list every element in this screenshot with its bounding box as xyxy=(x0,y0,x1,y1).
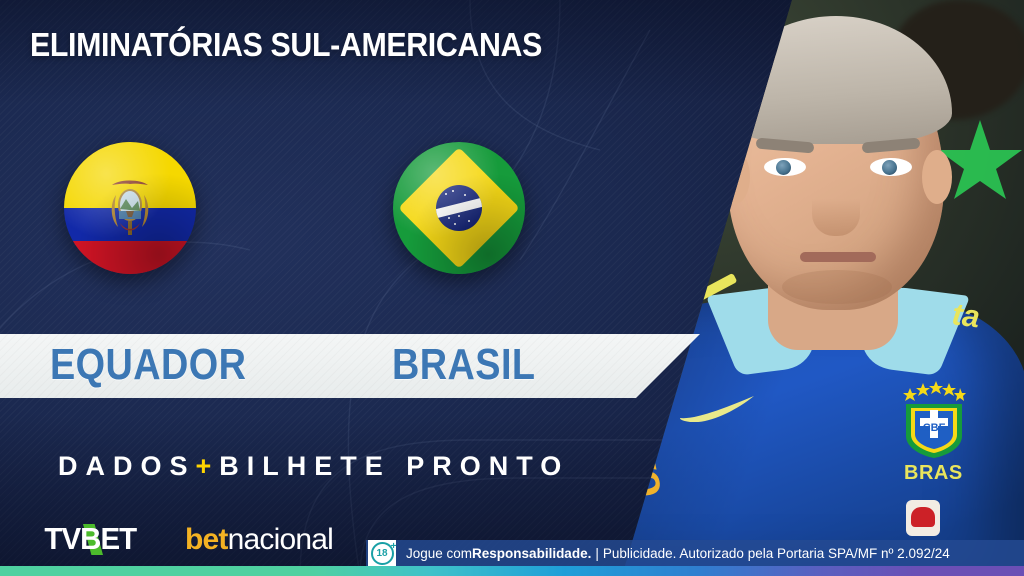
responsibility-bold: Responsabilidade. xyxy=(472,546,591,561)
nike-swoosh-icon xyxy=(678,396,756,422)
age-rating-plus: + xyxy=(391,541,397,552)
ear-right xyxy=(922,150,952,204)
age-rating-circle: 18 + xyxy=(371,542,394,565)
jersey-sponsor-patch xyxy=(906,500,940,536)
cbf-crest-icon: CBF xyxy=(902,380,966,458)
tvbet-logo[interactable]: TVBET xyxy=(42,524,139,554)
jersey-sponsor-text-right: ta xyxy=(950,296,1016,339)
bottom-color-strip xyxy=(0,566,1024,576)
age-rating-number: 18 xyxy=(376,548,387,559)
responsibility-text: Jogue com Responsabilidade. | Publicidad… xyxy=(406,540,950,566)
svg-text:CBF: CBF xyxy=(923,422,946,434)
tagline-right: BILHETE PRONTO xyxy=(219,451,569,481)
responsibility-separator: | xyxy=(591,546,603,561)
betnacional-logo[interactable]: betnacional xyxy=(185,523,333,557)
eye-left xyxy=(764,158,806,176)
ecuador-coat-of-arms-icon xyxy=(108,175,152,241)
away-team-name: BRASIL xyxy=(392,340,535,390)
age-rating-badge: 18 + xyxy=(368,540,396,566)
brazil-flag-icon xyxy=(393,142,525,274)
page-title: ELIMINATÓRIAS SUL-AMERICANAS xyxy=(30,26,542,64)
promo-banner: Itaú ta CBF BRAS xyxy=(0,0,1024,576)
jersey-country-text: BRAS xyxy=(904,462,963,485)
responsibility-prefix: Jogue com xyxy=(406,546,472,561)
nose xyxy=(812,174,860,236)
brazil-globe-icon xyxy=(436,185,482,231)
betnacional-logo-nacional: nacional xyxy=(228,523,333,556)
responsibility-suffix: Publicidade. Autorizado pela Portaria SP… xyxy=(603,546,950,561)
tagline-plus: + xyxy=(196,451,220,481)
home-team-name: EQUADOR xyxy=(50,340,246,390)
tagline-left: DADOS xyxy=(58,451,196,481)
chin-shadow xyxy=(782,270,892,304)
eye-right xyxy=(870,158,912,176)
tvbet-logo-text: TVBET xyxy=(44,521,136,557)
promo-tagline: DADOS+BILHETE PRONTO xyxy=(58,451,569,482)
ecuador-flag-icon xyxy=(64,142,196,274)
mouth xyxy=(800,252,876,262)
betnacional-logo-bet: bet xyxy=(185,523,228,556)
